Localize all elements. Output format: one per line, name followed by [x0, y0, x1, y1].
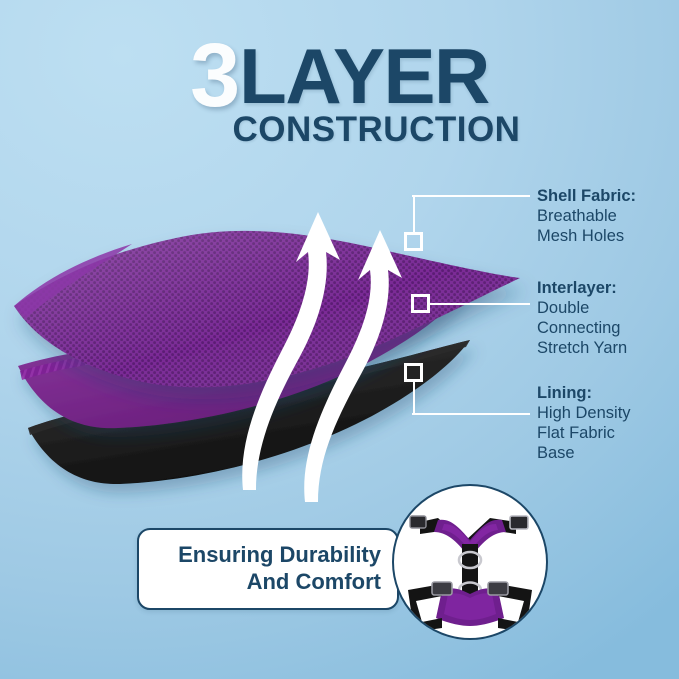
callout-line1-interlayer: Double — [537, 298, 627, 318]
callout-line2-shell-fabric: Mesh Holes — [537, 226, 636, 246]
marker-interlayer[interactable] — [411, 294, 430, 313]
headline-main-row: 3 LAYER — [0, 28, 679, 118]
callout-line3-lining: Base — [537, 443, 631, 463]
connector-horizontal-lining — [412, 413, 530, 415]
infographic-canvas: 3 LAYER CONSTRUCTION — [0, 0, 679, 679]
headline-word-layer: LAYER — [239, 37, 489, 115]
marker-lining[interactable] — [404, 363, 423, 382]
layer-count-number: 3 — [190, 31, 237, 121]
callout-text-lining: Lining: High Density Flat Fabric Base — [537, 383, 631, 464]
callout-text-interlayer: Interlayer: Double Connecting Stretch Ya… — [537, 278, 627, 359]
marker-shell-fabric[interactable] — [404, 232, 423, 251]
fabric-layers-illustration — [0, 128, 560, 508]
connector-vertical-lining — [413, 381, 415, 415]
callout-title-interlayer: Interlayer: — [537, 278, 627, 298]
callout-line2-interlayer: Connecting — [537, 318, 627, 338]
callout-line1-shell-fabric: Breathable — [537, 206, 636, 226]
callout-line1-lining: High Density — [537, 403, 631, 423]
product-image-circle — [392, 484, 548, 640]
callout-line2-lining: Flat Fabric — [537, 423, 631, 443]
connector-horizontal-interlayer — [429, 303, 530, 305]
connector-vertical-shell — [413, 196, 415, 234]
callout-text-shell-fabric: Shell Fabric: Breathable Mesh Holes — [537, 186, 636, 246]
connector-horizontal-shell — [412, 195, 530, 197]
dog-harness-illustration — [394, 486, 546, 638]
tagline-banner: Ensuring Durability And Comfort — [137, 528, 399, 610]
callout-line3-interlayer: Stretch Yarn — [537, 338, 627, 358]
callout-title-shell-fabric: Shell Fabric: — [537, 186, 636, 206]
callout-title-lining: Lining: — [537, 383, 631, 403]
tagline-text: Ensuring Durability And Comfort — [178, 542, 381, 596]
